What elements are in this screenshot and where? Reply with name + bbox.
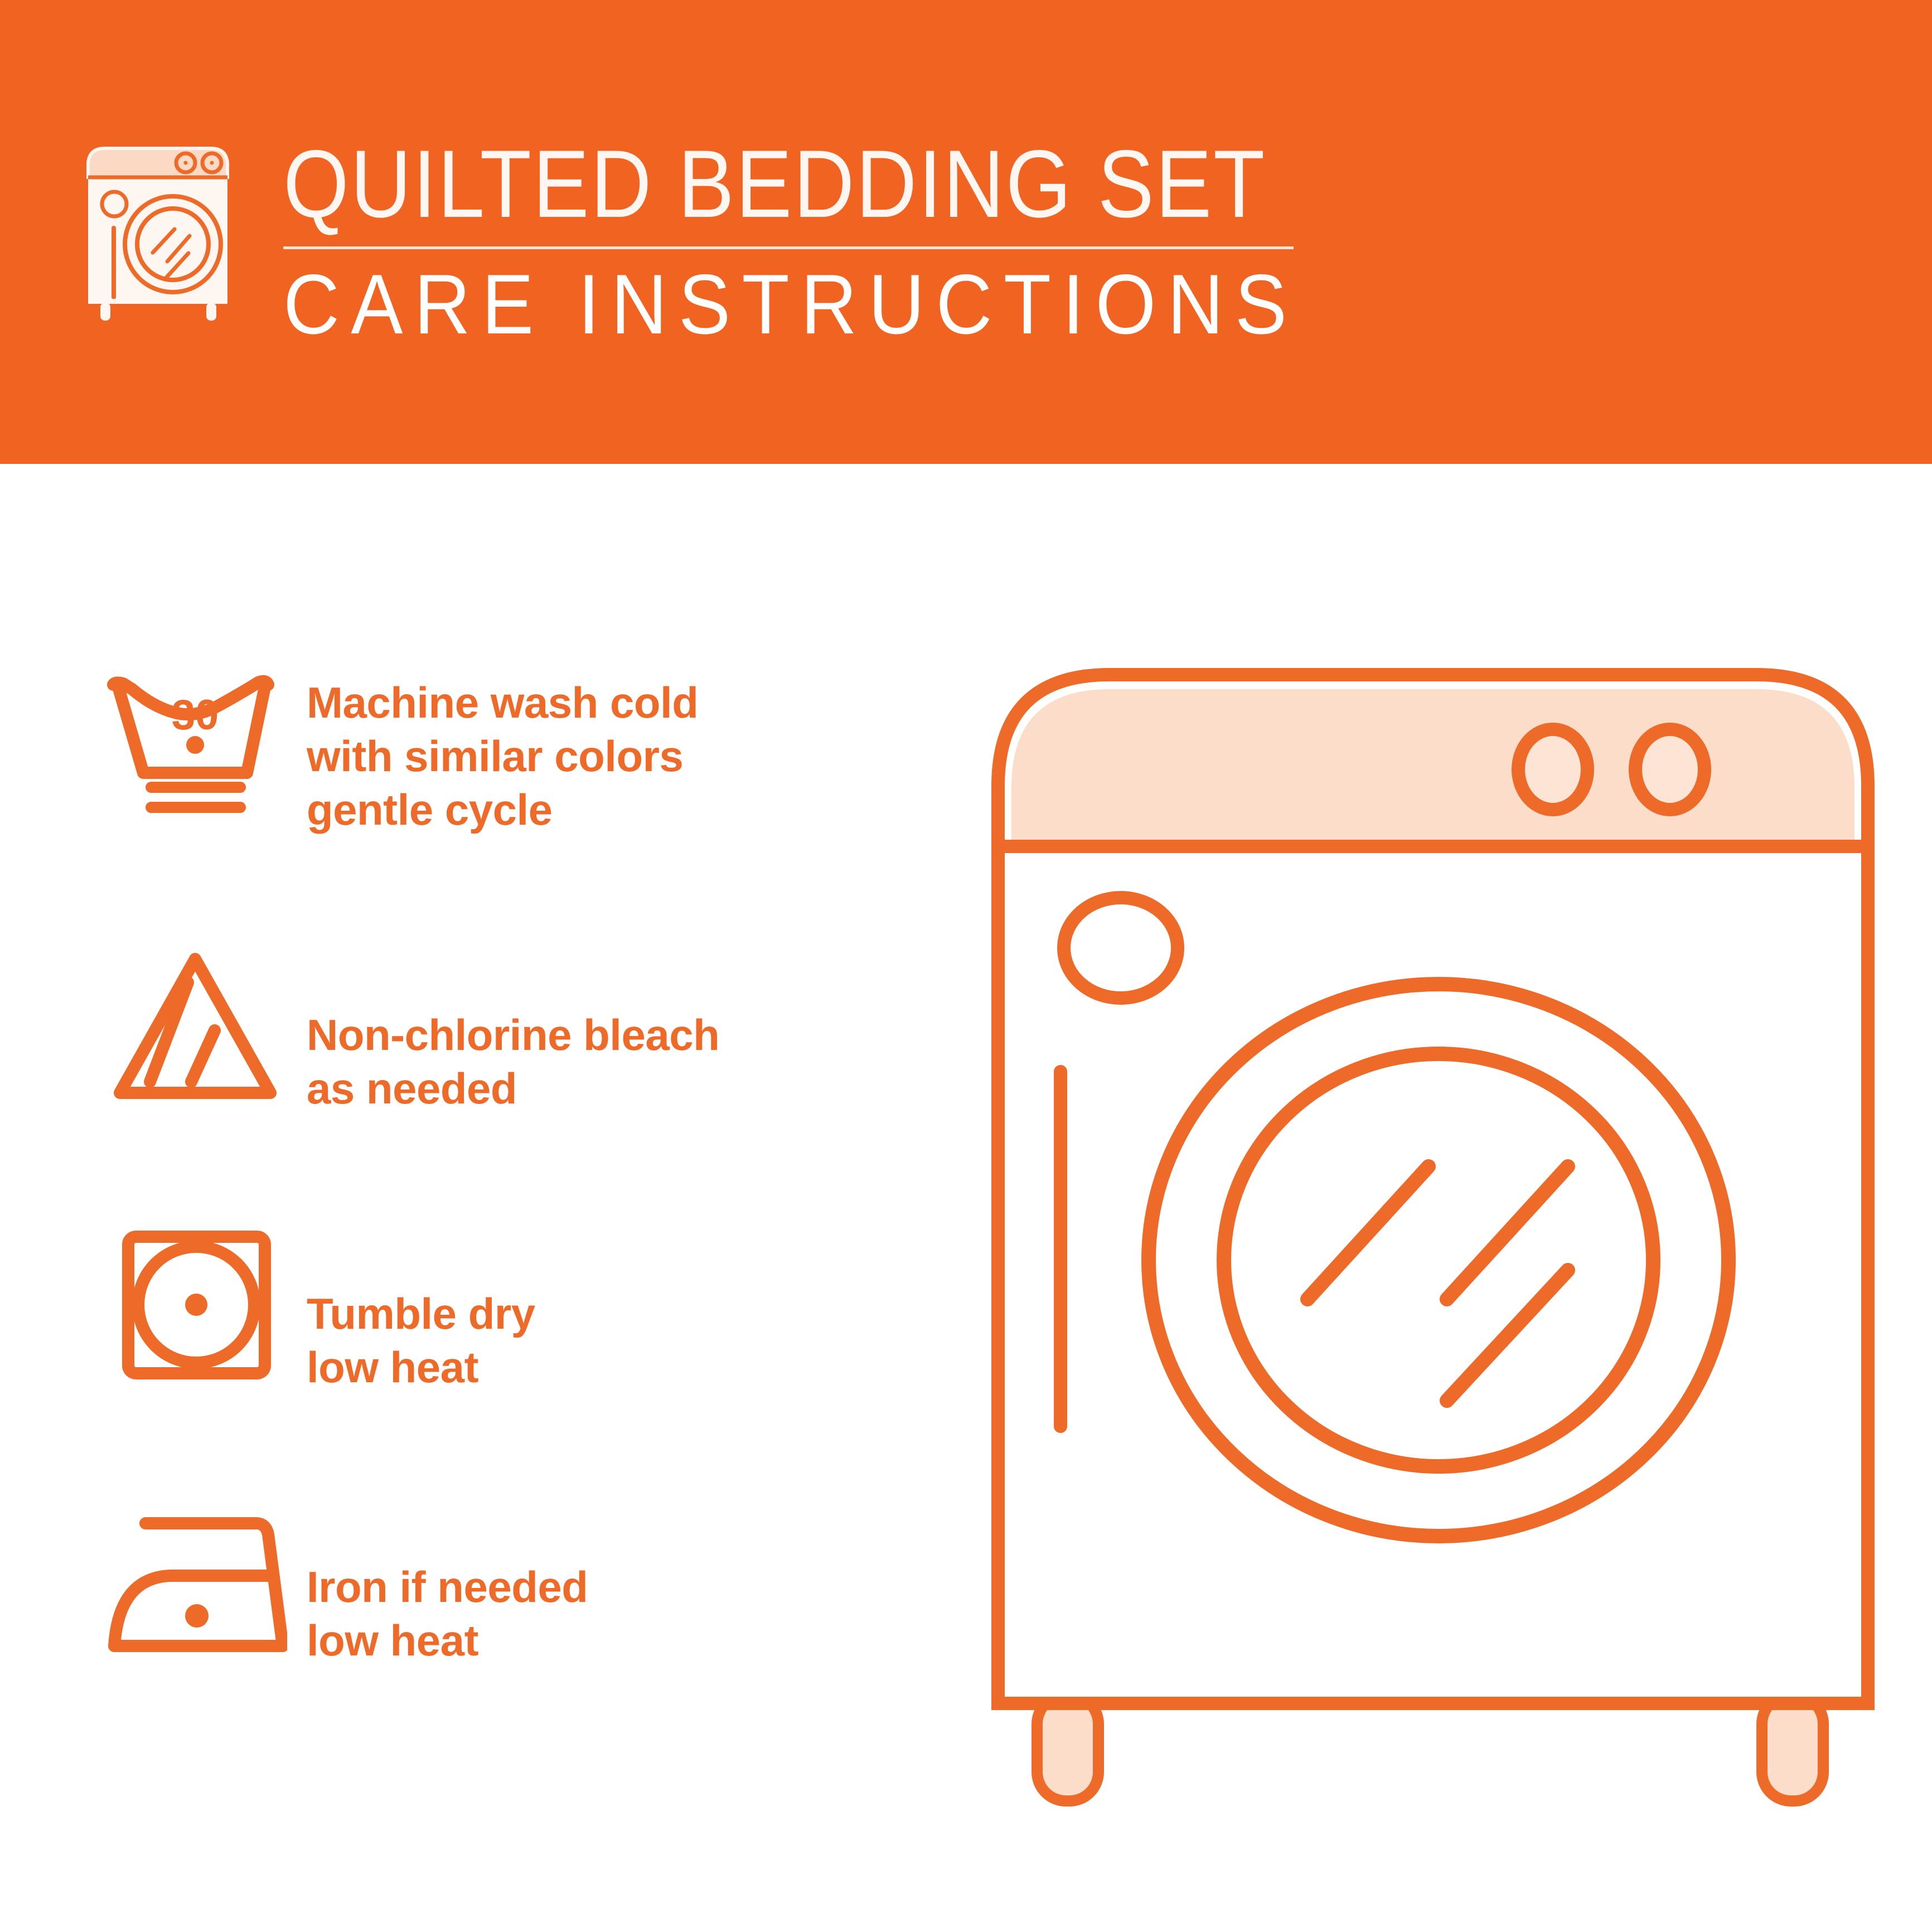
care-item-iron: Iron if needed low heat [84,1500,909,1779]
machine-leg-right [1762,1695,1823,1801]
care-item-tumble-dry: Tumble dry low heat [84,1221,909,1500]
header-band: QUILTED BEDDING SET CARE INSTRUCTIONS [0,0,1932,464]
care-item-label: Non-chlorine bleach as needed [307,942,909,1115]
machine-leg-left [1037,1695,1098,1801]
machine-side-bar [1054,1065,1067,1433]
care-item-label: Tumble dry low heat [307,1221,909,1394]
title-divider [283,246,1294,249]
page-subtitle: CARE INSTRUCTIONS [283,257,1222,352]
machine-knob-left [1518,729,1587,810]
iron-low-heat-icon [84,1500,307,1667]
care-item-machine-wash: 30 Machine wash cold with similar colors… [84,664,909,942]
care-item-label: Machine wash cold with similar colors ge… [307,664,909,836]
care-instructions-list: 30 Machine wash cold with similar colors… [84,664,909,1779]
header-title-block: QUILTED BEDDING SET CARE INSTRUCTIONS [283,134,1304,352]
care-item-bleach: Non-chlorine bleach as needed [84,942,909,1221]
page-title: QUILTED BEDDING SET [283,134,1181,234]
bleach-triangle-non-chlorine-icon [84,942,307,1110]
care-item-label: Iron if needed low heat [307,1500,909,1667]
machine-knob-right [1635,729,1705,810]
wash-temperature-value: 30 [172,691,219,739]
wash-tub-30-gentle-icon: 30 [84,664,307,825]
large-washing-machine-illustration [970,636,1896,1818]
washing-machine-logo-icon [83,138,244,322]
tumble-dry-low-icon [84,1221,307,1388]
